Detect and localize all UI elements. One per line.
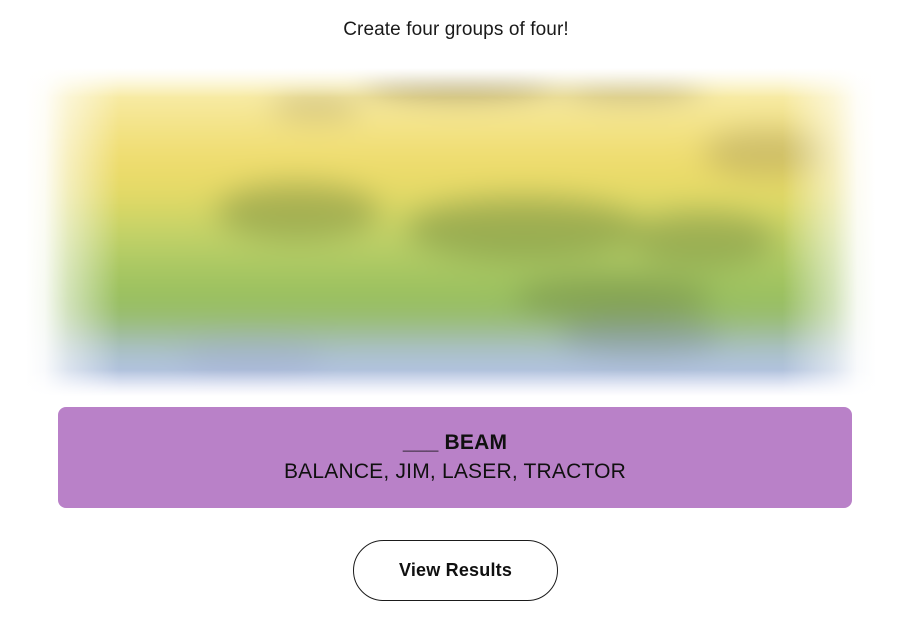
image-smudge — [181, 336, 325, 378]
image-smudge — [514, 274, 712, 323]
image-band-green-blue — [26, 322, 876, 357]
view-results-button[interactable]: View Results — [353, 540, 558, 601]
image-smudge — [559, 315, 721, 357]
solved-category-card-purple: ___ BEAM BALANCE, JIM, LASER, TRACTOR — [58, 407, 852, 508]
page-title: Create four groups of four! — [0, 17, 912, 43]
category-title: ___ BEAM — [403, 429, 507, 457]
puzzle-image — [26, 68, 876, 396]
image-band-blue — [26, 354, 876, 396]
image-smudge — [406, 197, 640, 260]
image-smudge — [271, 89, 361, 120]
image-band-green-lower — [26, 284, 876, 326]
image-smudge — [703, 128, 829, 177]
image-band-lavender-bottom — [26, 392, 876, 396]
puzzle-image-canvas — [26, 68, 876, 396]
category-members: BALANCE, JIM, LASER, TRACTOR — [284, 457, 626, 487]
image-smudge — [559, 69, 703, 100]
image-smudge — [217, 183, 379, 239]
image-smudge — [631, 211, 775, 267]
